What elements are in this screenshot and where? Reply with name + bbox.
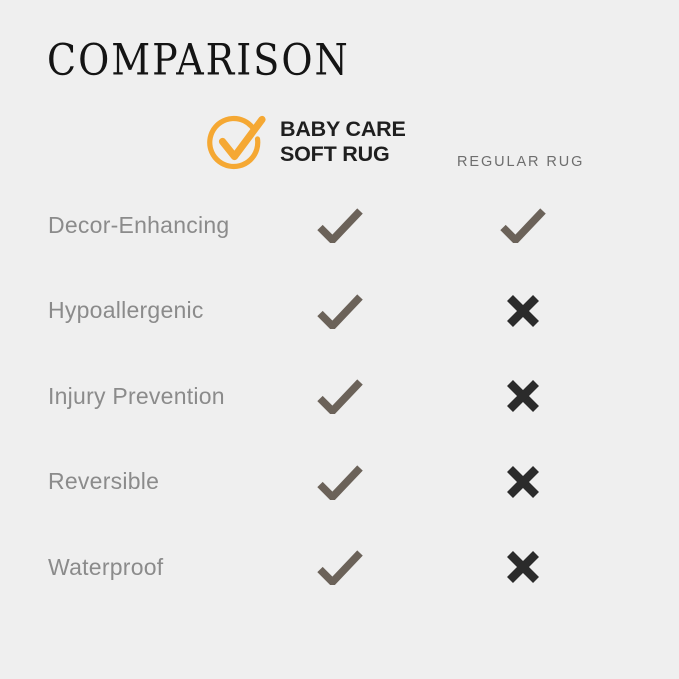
brand-name: BABY CARE SOFT RUG: [280, 119, 406, 166]
feature-label: Decor-Enhancing: [48, 197, 229, 253]
cell-regular-rug: [468, 539, 578, 595]
check-icon: [317, 207, 363, 243]
check-icon: [317, 464, 363, 500]
table-row: Decor-Enhancing: [0, 197, 679, 253]
cell-baby-care: [285, 368, 395, 424]
cell-regular-rug: [468, 454, 578, 510]
check-icon: [317, 378, 363, 414]
check-icon: [317, 549, 363, 585]
table-row: Waterproof: [0, 539, 679, 595]
check-icon: [317, 293, 363, 329]
cell-regular-rug: [468, 283, 578, 339]
cross-icon: [505, 464, 541, 500]
cell-regular-rug: [468, 368, 578, 424]
competitor-column-header: REGULAR RUG: [457, 154, 584, 170]
table-row: Hypoallergenic: [0, 283, 679, 339]
feature-label: Waterproof: [48, 539, 163, 595]
feature-label: Hypoallergenic: [48, 283, 204, 339]
table-header-row: BABY CARE SOFT RUG REGULAR RUG: [0, 110, 679, 190]
feature-label: Injury Prevention: [48, 368, 225, 424]
brand-column-header: BABY CARE SOFT RUG: [205, 110, 406, 174]
cross-icon: [505, 378, 541, 414]
cell-regular-rug: [468, 197, 578, 253]
cross-icon: [505, 549, 541, 585]
cell-baby-care: [285, 197, 395, 253]
cell-baby-care: [285, 539, 395, 595]
page-title: COMPARISON: [47, 34, 350, 86]
check-icon: [500, 207, 546, 243]
brand-name-line2: SOFT RUG: [280, 144, 406, 166]
table-row: Injury Prevention: [0, 368, 679, 424]
cell-baby-care: [285, 454, 395, 510]
orange-circle-check-icon: [205, 110, 269, 174]
brand-name-line1: BABY CARE: [280, 119, 406, 141]
cross-icon: [505, 293, 541, 329]
comparison-infographic: COMPARISON BABY CARE SOFT RUG REGULAR RU…: [0, 0, 679, 679]
cell-baby-care: [285, 283, 395, 339]
table-row: Reversible: [0, 454, 679, 510]
feature-label: Reversible: [48, 454, 159, 510]
